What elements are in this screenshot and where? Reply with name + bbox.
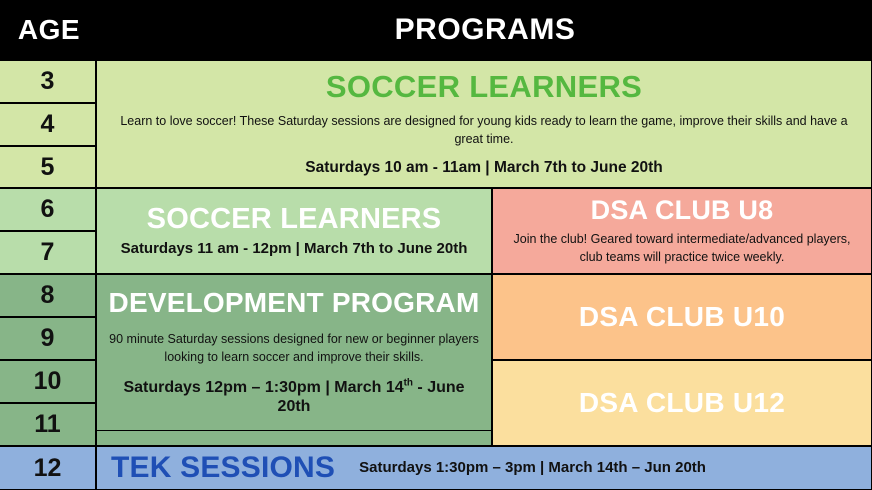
schedule-ordinal-suffix: th [404,378,413,389]
header-programs-label: PROGRAMS [98,0,872,60]
program-title: DSA CLUB U10 [579,302,785,331]
program-age-chart: AGE PROGRAMS 3 4 5 6 7 8 9 10 11 12 SOCC… [0,0,872,490]
program-schedule: Saturdays 10 am - 11am | March 7th to Ju… [305,159,663,178]
development-program-fill [96,431,492,446]
age-cell: 5 [0,146,96,188]
header-age-label: AGE [0,0,98,60]
age-cell: 7 [0,231,96,274]
program-block-soccer-learners-older: SOCCER LEARNERS Saturdays 11 am - 12pm |… [96,188,492,274]
program-block-dsa-club-u12: DSA CLUB U12 [492,360,872,446]
age-cell: 9 [0,317,96,360]
age-cell: 4 [0,103,96,146]
program-title: SOCCER LEARNERS [147,204,442,234]
program-column: SOCCER LEARNERS Learn to love soccer! Th… [96,60,872,490]
program-block-dsa-club-u10: DSA CLUB U10 [492,274,872,360]
age-cell: 3 [0,60,96,103]
chart-header: AGE PROGRAMS [0,0,872,60]
age-column: 3 4 5 6 7 8 9 10 11 12 [0,60,96,490]
program-block-development-program: DEVELOPMENT PROGRAM 90 minute Saturday s… [96,274,492,431]
program-schedule: Saturdays 1:30pm – 3pm | March 14th – Ju… [359,459,706,477]
chart-body: 3 4 5 6 7 8 9 10 11 12 SOCCER LEARNERS L… [0,60,872,490]
schedule-prefix: Saturdays 12pm – 1:30pm | March 14 [123,379,403,396]
program-block-soccer-learners-young: SOCCER LEARNERS Learn to love soccer! Th… [96,60,872,188]
program-schedule: Saturdays 12pm – 1:30pm | March 14th - J… [107,378,481,416]
age-cell: 11 [0,403,96,446]
program-schedule: Saturdays 11 am - 12pm | March 7th to Ju… [121,240,468,258]
program-title: DSA CLUB U8 [591,196,774,224]
age-cell: 6 [0,188,96,231]
program-description: Learn to love soccer! These Saturday ses… [111,112,857,148]
program-description: 90 minute Saturday sessions designed for… [107,330,481,366]
age-cell: 12 [0,446,96,490]
program-title: DSA CLUB U12 [579,388,785,417]
program-title: SOCCER LEARNERS [326,71,642,104]
program-title: DEVELOPMENT PROGRAM [109,288,480,317]
program-description: Join the club! Geared toward intermediat… [505,230,859,266]
program-block-dsa-club-u8: DSA CLUB U8 Join the club! Geared toward… [492,188,872,274]
program-block-tek-sessions: TEK SESSIONS Saturdays 1:30pm – 3pm | Ma… [96,446,872,490]
program-title: TEK SESSIONS [111,452,335,484]
age-cell: 10 [0,360,96,403]
age-cell: 8 [0,274,96,317]
